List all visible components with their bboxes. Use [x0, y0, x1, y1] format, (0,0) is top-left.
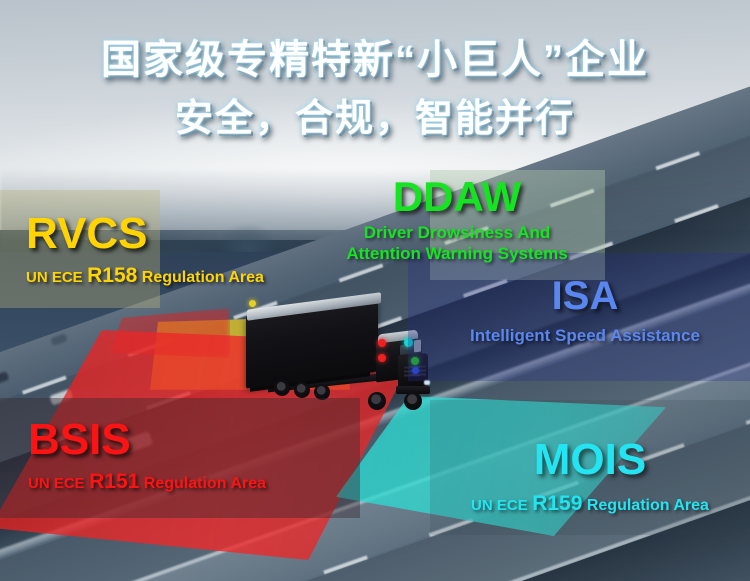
bsis-sub-prefix: UN ECE	[28, 475, 85, 492]
bsis-acronym: BSIS	[28, 418, 266, 462]
side-mirror	[414, 340, 421, 353]
headlight	[424, 380, 430, 385]
label-mois: MOIS UN ECE R159 Regulation Area	[440, 438, 740, 516]
isa-acronym: ISA	[440, 276, 730, 316]
trailer-wheel-3	[314, 384, 330, 400]
headline-line-1: 国家级专精特新“小巨人”企业	[0, 34, 750, 86]
front-sensor-green-dot	[411, 357, 419, 365]
label-rvcs: RVCS UN ECE R158 Regulation Area	[26, 212, 264, 288]
ddaw-acronym: DDAW	[332, 176, 582, 218]
isa-subtitle: Intelligent Speed Assistance	[440, 326, 730, 346]
mois-subtitle: UN ECE R159 Regulation Area	[440, 492, 740, 516]
cab-side-sensor-upper-dot	[378, 339, 386, 347]
label-bsis: BSIS UN ECE R151 Regulation Area	[28, 418, 266, 494]
mois-sub-suffix: Regulation Area	[587, 497, 709, 514]
rvcs-sub-suffix: Regulation Area	[142, 269, 264, 286]
roof-sensor-dot	[404, 338, 413, 347]
truck-illustration	[228, 292, 436, 428]
trailer-wheel-1	[274, 380, 290, 396]
cab-side-sensor-lower-dot	[378, 354, 386, 362]
label-ddaw: DDAW Driver Drowsiness And Attention War…	[332, 176, 582, 264]
tractor-front-wheel	[404, 392, 422, 410]
ddaw-subtitle-line-2: Attention Warning Systems	[332, 243, 582, 264]
headline: 国家级专精特新“小巨人”企业 安全，合规，智能并行	[0, 34, 750, 144]
headline-line-2: 安全，合规，智能并行	[0, 94, 750, 144]
trailer-wheel-2	[294, 382, 310, 398]
mois-sub-code: R159	[532, 492, 582, 515]
mois-sub-prefix: UN ECE	[471, 497, 528, 514]
bsis-sub-code: R151	[89, 470, 139, 493]
rear-trailer-sensor-dot	[249, 300, 256, 307]
rvcs-sub-code: R158	[87, 264, 137, 287]
bsis-subtitle: UN ECE R151 Regulation Area	[28, 470, 266, 494]
bsis-sub-suffix: Regulation Area	[144, 475, 266, 492]
rvcs-subtitle: UN ECE R158 Regulation Area	[26, 264, 264, 288]
banner-image: 国家级专精特新“小巨人”企业 安全，合规，智能并行 RVCS UN ECE R1…	[0, 0, 750, 581]
mois-acronym: MOIS	[440, 438, 740, 482]
ddaw-subtitle-line-1: Driver Drowsiness And	[332, 222, 582, 243]
rvcs-acronym: RVCS	[26, 212, 264, 256]
rvcs-sub-prefix: UN ECE	[26, 269, 83, 286]
tractor-rear-wheel	[368, 392, 386, 410]
label-isa: ISA Intelligent Speed Assistance	[440, 276, 730, 346]
front-sensor-blue-dot	[412, 367, 419, 374]
